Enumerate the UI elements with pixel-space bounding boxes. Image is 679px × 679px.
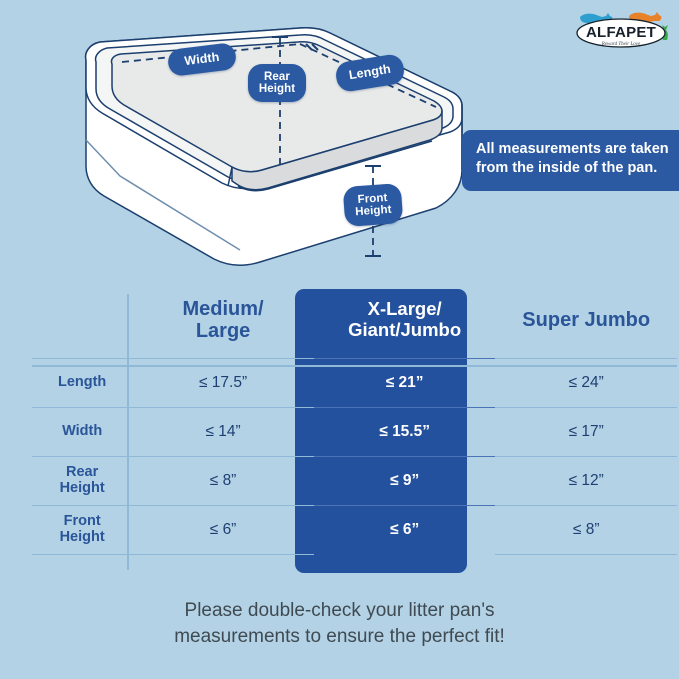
row-label-front-height-line1: Front <box>64 513 101 529</box>
rear-height-line2: Height <box>259 83 295 95</box>
front-height-line2: Height <box>355 204 392 219</box>
label-front-height: Front Height <box>343 183 404 227</box>
column-header-super-jumbo-line1: Super Jumbo <box>522 309 650 331</box>
column-header-xlarge-line1: X-Large/ <box>368 298 442 319</box>
table-header-row: Medium/ Large X-Large/ Giant/Jumbo Super… <box>32 282 677 359</box>
label-rear-height: Rear Height <box>248 64 306 102</box>
column-header-xlarge-giant-jumbo: X-Large/ Giant/Jumbo <box>314 282 496 359</box>
cell-length-super-jumbo: ≤ 24” <box>495 359 677 408</box>
callout-note: All measurements are taken from the insi… <box>462 130 679 191</box>
label-front-height-text: Front Height <box>354 191 392 218</box>
label-rear-height-text: Rear Height <box>259 71 295 96</box>
cell-length-xlarge: ≤ 21” <box>314 359 496 408</box>
row-label-width-text: Width <box>62 423 102 439</box>
column-header-medium-large-line1: Medium/ <box>183 298 264 320</box>
litter-pan-diagram: Width Rear Height Length Front Height Al… <box>0 0 679 278</box>
cell-front-height-xlarge: ≤ 6” <box>314 506 496 555</box>
footer-note: Please double-check your litter pan's me… <box>0 598 679 649</box>
row-label-front-height-line2: Height <box>60 529 105 545</box>
table-row: Front Height ≤ 6” ≤ 6” ≤ 8” <box>32 506 677 555</box>
table-row: Rear Height ≤ 8” ≤ 9” ≤ 12” <box>32 457 677 506</box>
label-width-text: Width <box>184 51 220 69</box>
column-header-medium-large-line2: Large <box>196 320 250 342</box>
rear-height-line1: Rear <box>264 71 290 83</box>
row-label-width: Width <box>32 408 132 457</box>
column-header-medium-large: Medium/ Large <box>132 282 314 359</box>
row-label-front-height: Front Height <box>32 506 132 555</box>
table-row: Length ≤ 17.5” ≤ 21” ≤ 24” <box>32 359 677 408</box>
cell-rear-height-medium-large: ≤ 8” <box>132 457 314 506</box>
row-label-rear-height-line1: Rear <box>66 464 98 480</box>
cell-rear-height-xlarge: ≤ 9” <box>314 457 496 506</box>
row-label-rear-height: Rear Height <box>32 457 132 506</box>
cell-front-height-medium-large: ≤ 6” <box>132 506 314 555</box>
measurement-table: Medium/ Large X-Large/ Giant/Jumbo Super… <box>32 282 677 555</box>
column-header-xlarge-line2: Giant/Jumbo <box>348 319 461 340</box>
size-table: Medium/ Large X-Large/ Giant/Jumbo Super… <box>0 282 679 582</box>
table-corner-cell <box>32 282 132 359</box>
cell-width-xlarge: ≤ 15.5” <box>314 408 496 457</box>
row-label-length: Length <box>32 359 132 408</box>
cell-width-medium-large: ≤ 14” <box>132 408 314 457</box>
cell-front-height-super-jumbo: ≤ 8” <box>495 506 677 555</box>
row-label-rear-height-line2: Height <box>60 480 105 496</box>
cell-length-medium-large: ≤ 17.5” <box>132 359 314 408</box>
size-chart-infographic: ALFAPET Reward Their Love <box>0 0 679 679</box>
cell-rear-height-super-jumbo: ≤ 12” <box>495 457 677 506</box>
footer-line1: Please double-check your litter pan's <box>0 598 679 624</box>
footer-line2: measurements to ensure the perfect fit! <box>0 624 679 650</box>
table-row: Width ≤ 14” ≤ 15.5” ≤ 17” <box>32 408 677 457</box>
column-header-super-jumbo: Super Jumbo <box>495 282 677 359</box>
label-length-text: Length <box>348 63 392 83</box>
row-label-length-text: Length <box>58 374 106 390</box>
cell-width-super-jumbo: ≤ 17” <box>495 408 677 457</box>
